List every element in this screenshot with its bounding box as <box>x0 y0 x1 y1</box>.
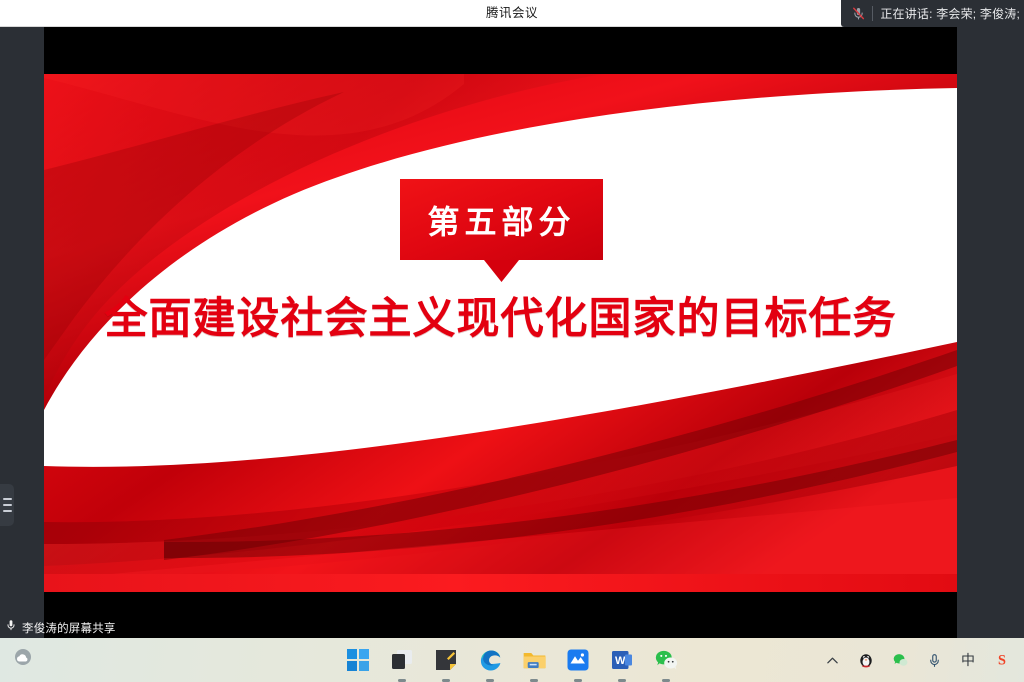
task-view-icon <box>390 648 414 672</box>
wechat-button[interactable] <box>653 647 679 673</box>
wechat-icon <box>654 648 679 673</box>
qq-tray-icon[interactable] <box>856 650 876 670</box>
task-view-button[interactable] <box>389 647 415 673</box>
word-button[interactable]: W <box>609 647 635 673</box>
microphone-tray-icon[interactable] <box>924 650 944 670</box>
hamburger-line <box>3 510 12 512</box>
folder-icon <box>522 648 547 673</box>
screen-share-label: 李俊涛的屏幕共享 <box>22 620 116 636</box>
window-titlebar: 腾讯会议 正在讲话: 李会荣; 李俊涛; <box>0 0 1024 27</box>
chevron-up-icon <box>826 654 839 667</box>
tencent-meeting-icon <box>566 648 590 672</box>
wechat-tray-icon[interactable] <box>890 650 910 670</box>
wechat-icon <box>892 652 909 669</box>
microphone-icon <box>927 653 942 668</box>
edge-browser-icon <box>478 648 503 673</box>
microphone-icon <box>5 618 17 637</box>
sogou-ime-button[interactable]: S <box>992 650 1012 670</box>
presentation-slide[interactable]: 第五部分 全面建设社会主义现代化国家的目标任务 <box>44 74 957 592</box>
speaking-status-label: 正在讲话: 李会荣; 李俊涛; <box>880 5 1020 22</box>
sidebar-flyout-handle[interactable] <box>0 484 14 526</box>
edge-button[interactable] <box>477 647 503 673</box>
meeting-window-body: 第五部分 全面建设社会主义现代化国家的目标任务 李俊涛的屏幕共享 <box>0 27 1024 638</box>
qq-penguin-icon <box>857 651 875 669</box>
windows-taskbar: W <box>0 638 1024 682</box>
file-explorer-button[interactable] <box>521 647 547 673</box>
svg-text:W: W <box>615 655 626 667</box>
show-hidden-icons-button[interactable] <box>822 650 842 670</box>
sticky-notes-button[interactable] <box>433 647 459 673</box>
sticky-notes-icon <box>434 648 458 672</box>
screen-share-status: 李俊涛的屏幕共享 <box>0 617 116 638</box>
sogou-logo-icon: S <box>993 651 1011 669</box>
svg-text:S: S <box>998 653 1006 669</box>
meeting-button[interactable] <box>565 647 591 673</box>
windows-logo-icon <box>347 649 369 671</box>
start-button[interactable] <box>345 647 371 673</box>
section-badge-label: 第五部分 <box>400 179 603 260</box>
mic-muted-icon <box>848 3 869 24</box>
hamburger-line <box>3 498 12 500</box>
ime-mode-button[interactable]: 中 <box>958 650 978 670</box>
hamburger-line <box>3 504 12 506</box>
badge-divider <box>872 6 873 21</box>
system-tray: 中 S <box>822 638 1020 682</box>
slide-heading: 全面建设社会主义现代化国家的目标任务 <box>44 292 957 346</box>
speaking-status-badge: 正在讲话: 李会荣; 李俊涛; <box>841 0 1024 27</box>
word-icon: W <box>610 648 634 672</box>
